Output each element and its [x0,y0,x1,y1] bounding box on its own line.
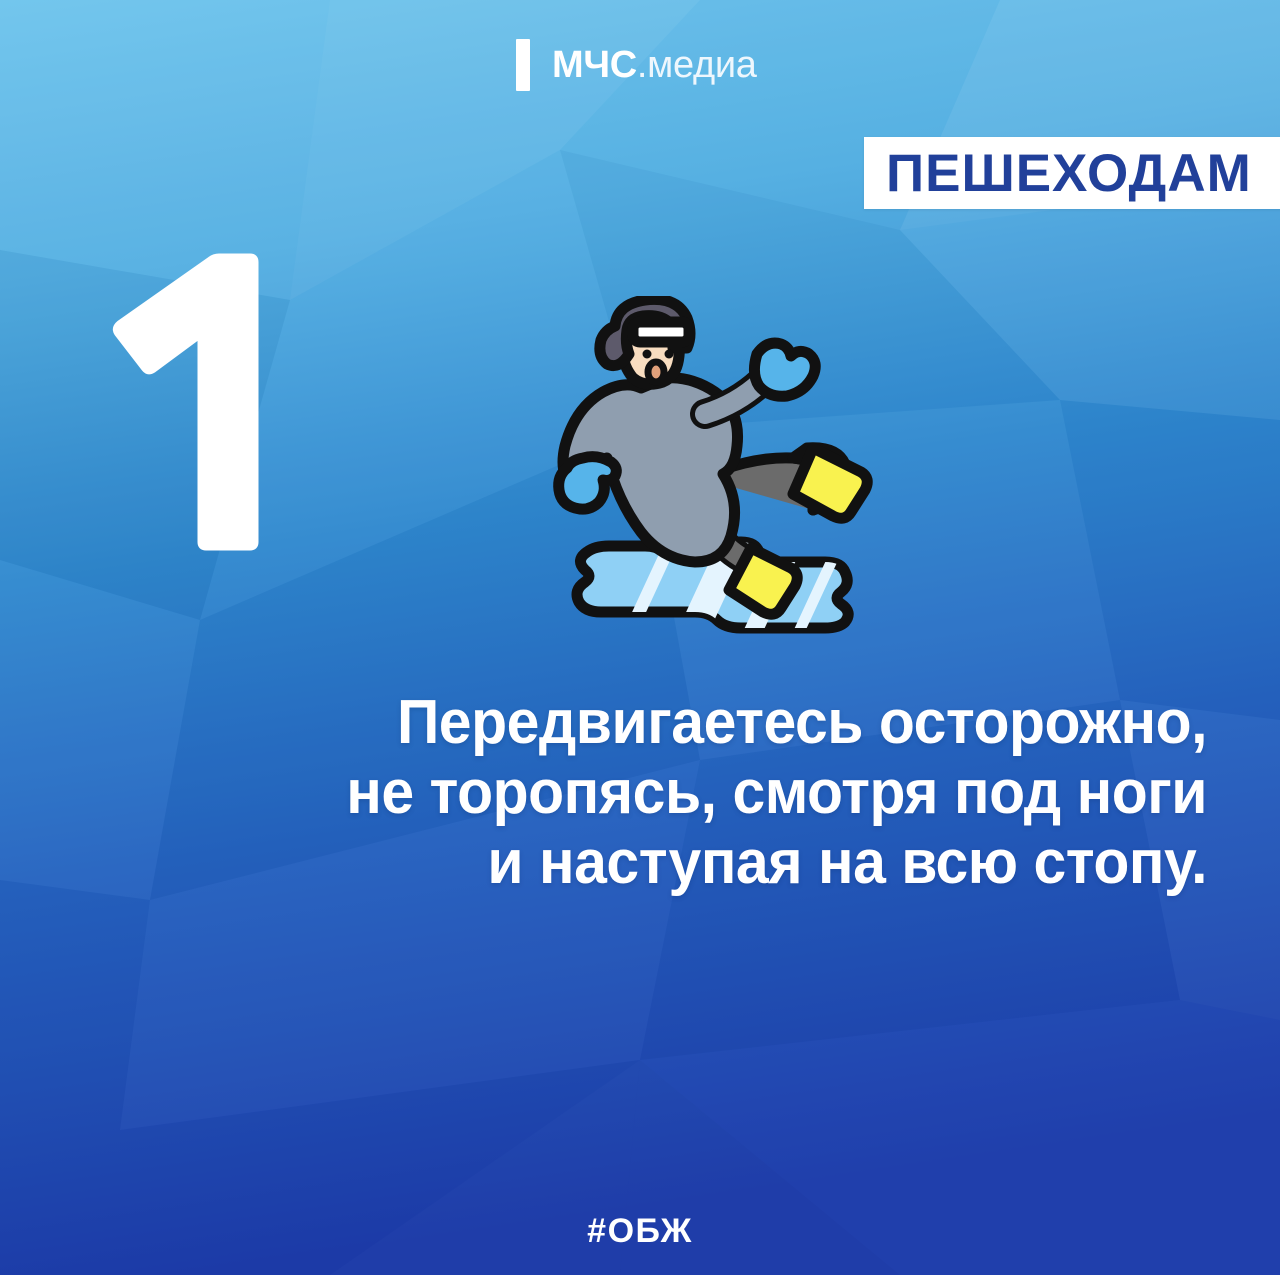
category-badge: ПЕШЕХОДАМ [864,137,1280,209]
footer-hashtag: #ОБЖ [0,1212,1280,1251]
mitten-right-icon [754,343,815,396]
poster-canvas: МЧС.медиа ПЕШЕХОДАМ 1 [0,0,1280,1275]
hat-band [633,322,689,342]
mouth-icon [648,362,664,382]
logo-name-bold: МЧС [552,44,637,86]
boot-right-icon [793,448,867,518]
headline-line-2: не торопясь, смотря под ноги [127,758,1207,828]
brand-logo: МЧС.медиа [516,37,757,93]
person-slipping-on-ice-illustration [545,296,895,656]
logo-bar-icon [516,39,530,91]
headline-line-1: Передвигаетесь осторожно, [127,688,1207,758]
headline-line-3: и наступая на всю стопу. [127,828,1207,898]
eye-left-icon [643,350,652,359]
mitten-left-icon [559,457,617,509]
step-number-1: 1 [106,252,306,552]
category-badge-label: ПЕШЕХОДАМ [886,147,1252,200]
step-number-glyph [115,256,256,548]
headline-text: Передвигаетесь осторожно, не торопясь, с… [127,688,1207,898]
logo-name-light: .медиа [637,44,757,86]
logo-wordmark: МЧС.медиа [552,46,757,84]
eye-right-icon [665,350,674,359]
